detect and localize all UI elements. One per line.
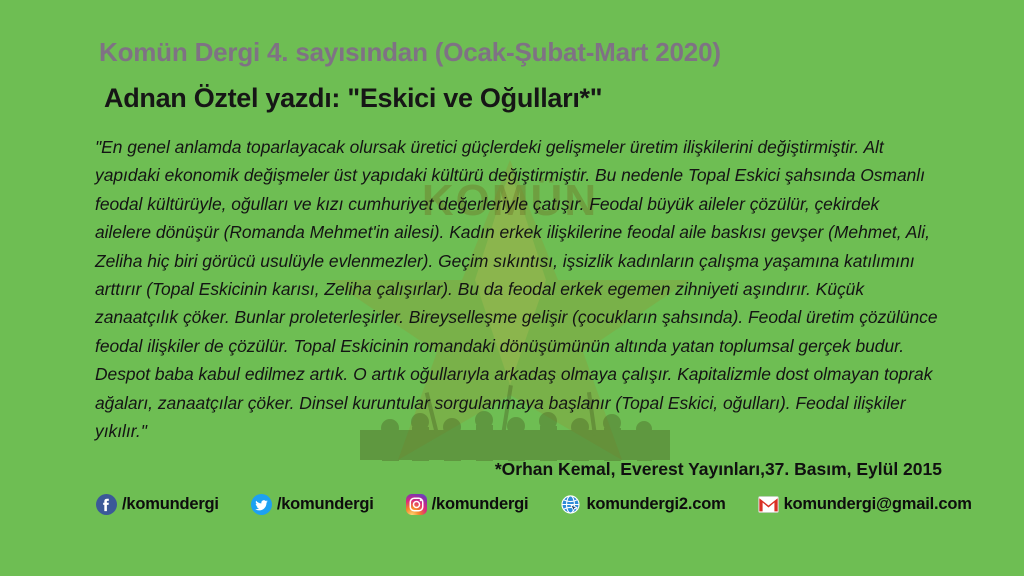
social-item-website[interactable]: komundergi2.com xyxy=(560,494,725,515)
social-item-facebook[interactable]: /komundergi xyxy=(96,494,219,515)
social-handle: komundergi2.com xyxy=(586,495,725,514)
social-item-twitter[interactable]: /komundergi xyxy=(251,494,374,515)
social-footer: /komundergi /komundergi xyxy=(96,494,972,515)
poster-canvas: KOMÜN Komün Dergi 4. sayısından (Ocak-Ş xyxy=(0,0,1024,576)
social-handle: komundergi@gmail.com xyxy=(784,495,972,514)
issue-kicker: Komün Dergi 4. sayısından (Ocak-Şubat-Ma… xyxy=(99,37,721,68)
social-handle: /komundergi xyxy=(432,495,529,514)
instagram-icon xyxy=(406,494,427,515)
social-item-instagram[interactable]: /komundergi xyxy=(406,494,529,515)
globe-icon xyxy=(560,494,581,515)
facebook-icon xyxy=(96,494,117,515)
social-handle: /komundergi xyxy=(122,495,219,514)
gmail-icon xyxy=(758,494,779,515)
quote-body: "En genel anlamda toparlayacak olursak ü… xyxy=(95,133,940,445)
twitter-icon xyxy=(251,494,272,515)
page-title: Adnan Öztel yazdı: "Eskici ve Oğulları*" xyxy=(104,83,602,114)
source-attribution: *Orhan Kemal, Everest Yayınları,37. Bası… xyxy=(495,459,942,480)
social-item-email[interactable]: komundergi@gmail.com xyxy=(758,494,972,515)
social-handle: /komundergi xyxy=(277,495,374,514)
